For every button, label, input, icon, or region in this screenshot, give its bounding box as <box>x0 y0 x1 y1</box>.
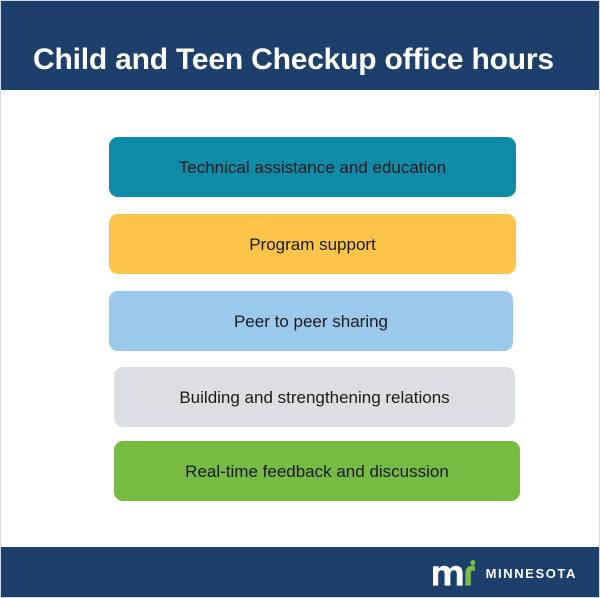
infographic-canvas: Child and Teen Checkup office hours Tech… <box>0 0 600 598</box>
bar-label: Building and strengthening relations <box>179 387 449 408</box>
footer-band: Minnesota <box>1 547 600 598</box>
bar-item-building-relations: Building and strengthening relations <box>114 367 515 427</box>
bar-item-real-time-feedback: Real-time feedback and discussion <box>114 441 520 501</box>
bar-label: Peer to peer sharing <box>234 311 388 332</box>
bar-label: Program support <box>249 234 376 255</box>
minnesota-brand-lockup: Minnesota <box>433 547 577 598</box>
bar-item-technical-assistance: Technical assistance and education <box>109 137 516 197</box>
bar-label: Technical assistance and education <box>179 157 446 178</box>
bar-item-program-support: Program support <box>109 214 516 274</box>
minnesota-wordmark: Minnesota <box>486 563 577 583</box>
bar-stack: Technical assistance and education Progr… <box>1 90 600 547</box>
header-band: Child and Teen Checkup office hours <box>1 1 600 90</box>
page-title: Child and Teen Checkup office hours <box>33 43 554 77</box>
minnesota-m-logo-icon <box>433 560 475 586</box>
bar-label: Real-time feedback and discussion <box>185 461 449 482</box>
bar-item-peer-to-peer-sharing: Peer to peer sharing <box>109 291 513 351</box>
